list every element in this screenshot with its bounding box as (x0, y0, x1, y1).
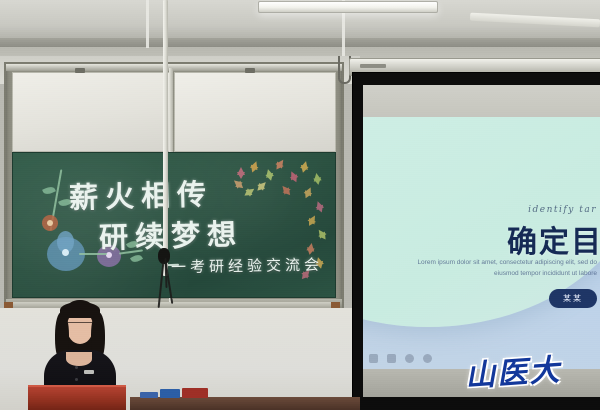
desk (130, 397, 360, 410)
blackboard-headline-line1: 薪火相传 (68, 171, 213, 217)
slide-body-text: Lorem ipsum dolor sit amet, consectetur … (397, 257, 597, 279)
pen-icon[interactable] (369, 354, 378, 363)
desk-item-blue-box (140, 392, 158, 398)
name-badge (84, 370, 94, 374)
blackboard-headline-line2: 研续梦想 (98, 211, 243, 257)
ceiling-beam (0, 38, 600, 47)
panel-clip-icon (245, 68, 255, 73)
laser-icon[interactable] (423, 354, 432, 363)
pointer-icon[interactable] (405, 354, 414, 363)
powerpoint-toolbar[interactable] (369, 354, 432, 363)
blackboard-subtitle: 一考研经验交流会 (171, 254, 323, 278)
neckline (66, 352, 92, 366)
podium (28, 385, 126, 410)
button (75, 366, 78, 369)
desk-item-blue-box (160, 389, 180, 398)
slide-script-text: identify tar (528, 205, 597, 215)
chalkboard: 薪火相传 研续梦想 一考研经验交流会 (12, 152, 336, 298)
classroom-photo: 薪火相传 研续梦想 一考研经验交流会 identify tar 确定目 Lore… (0, 0, 600, 410)
slide-title: 确定目 (507, 217, 600, 261)
board-top-rail (6, 64, 342, 71)
ceiling-seam (146, 0, 149, 48)
slide-pill-button[interactable]: 某某 (549, 289, 597, 308)
desk-item-red-box (182, 388, 208, 398)
slide-icon[interactable] (387, 354, 396, 363)
glasses-icon (68, 322, 92, 329)
fluorescent-tube-light (258, 1, 438, 13)
leaf-shape (42, 185, 56, 196)
ceiling-conduit-pole (163, 0, 168, 276)
whiteboard-panel-right[interactable] (174, 72, 336, 152)
blackboard-unit: 薪火相传 研续梦想 一考研经验交流会 (4, 62, 344, 310)
whiteboard-panel-left[interactable] (12, 72, 170, 152)
housing-label (360, 64, 386, 68)
panel-clip-icon (75, 68, 85, 73)
screen-unlit-band (363, 85, 600, 117)
watermark-logo: 山医大 (464, 345, 563, 396)
presentation-slide: identify tar 确定目 Lorem ipsum dolor sit a… (363, 117, 600, 369)
button (75, 378, 78, 381)
